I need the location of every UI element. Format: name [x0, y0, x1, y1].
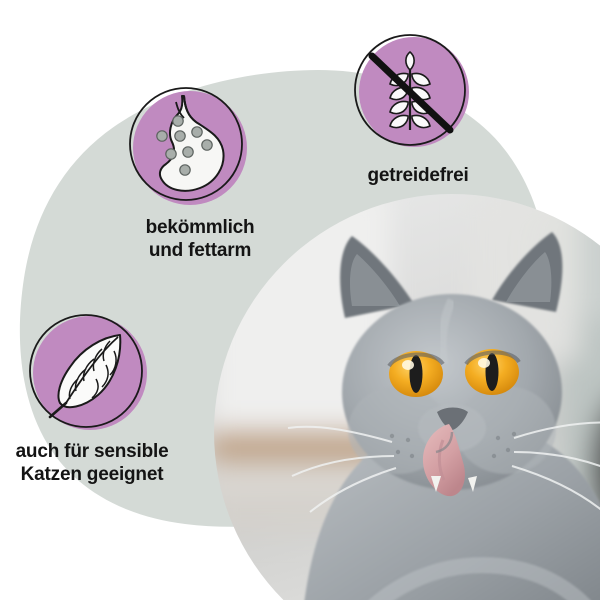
badge-stomach-label: bekömmlich und fettarm [110, 216, 290, 262]
feature-graphic: bekömmlich und fettarm getreidefrei [0, 0, 600, 600]
badge-feather-label: auch für sensible Katzen geeignet [0, 440, 192, 486]
badge-stomach[interactable] [124, 82, 252, 210]
badge-grain[interactable] [350, 30, 474, 154]
badge-feather[interactable] [22, 307, 150, 435]
badge-grain-label: getreidefrei [328, 164, 508, 187]
cat-photo [0, 0, 600, 600]
